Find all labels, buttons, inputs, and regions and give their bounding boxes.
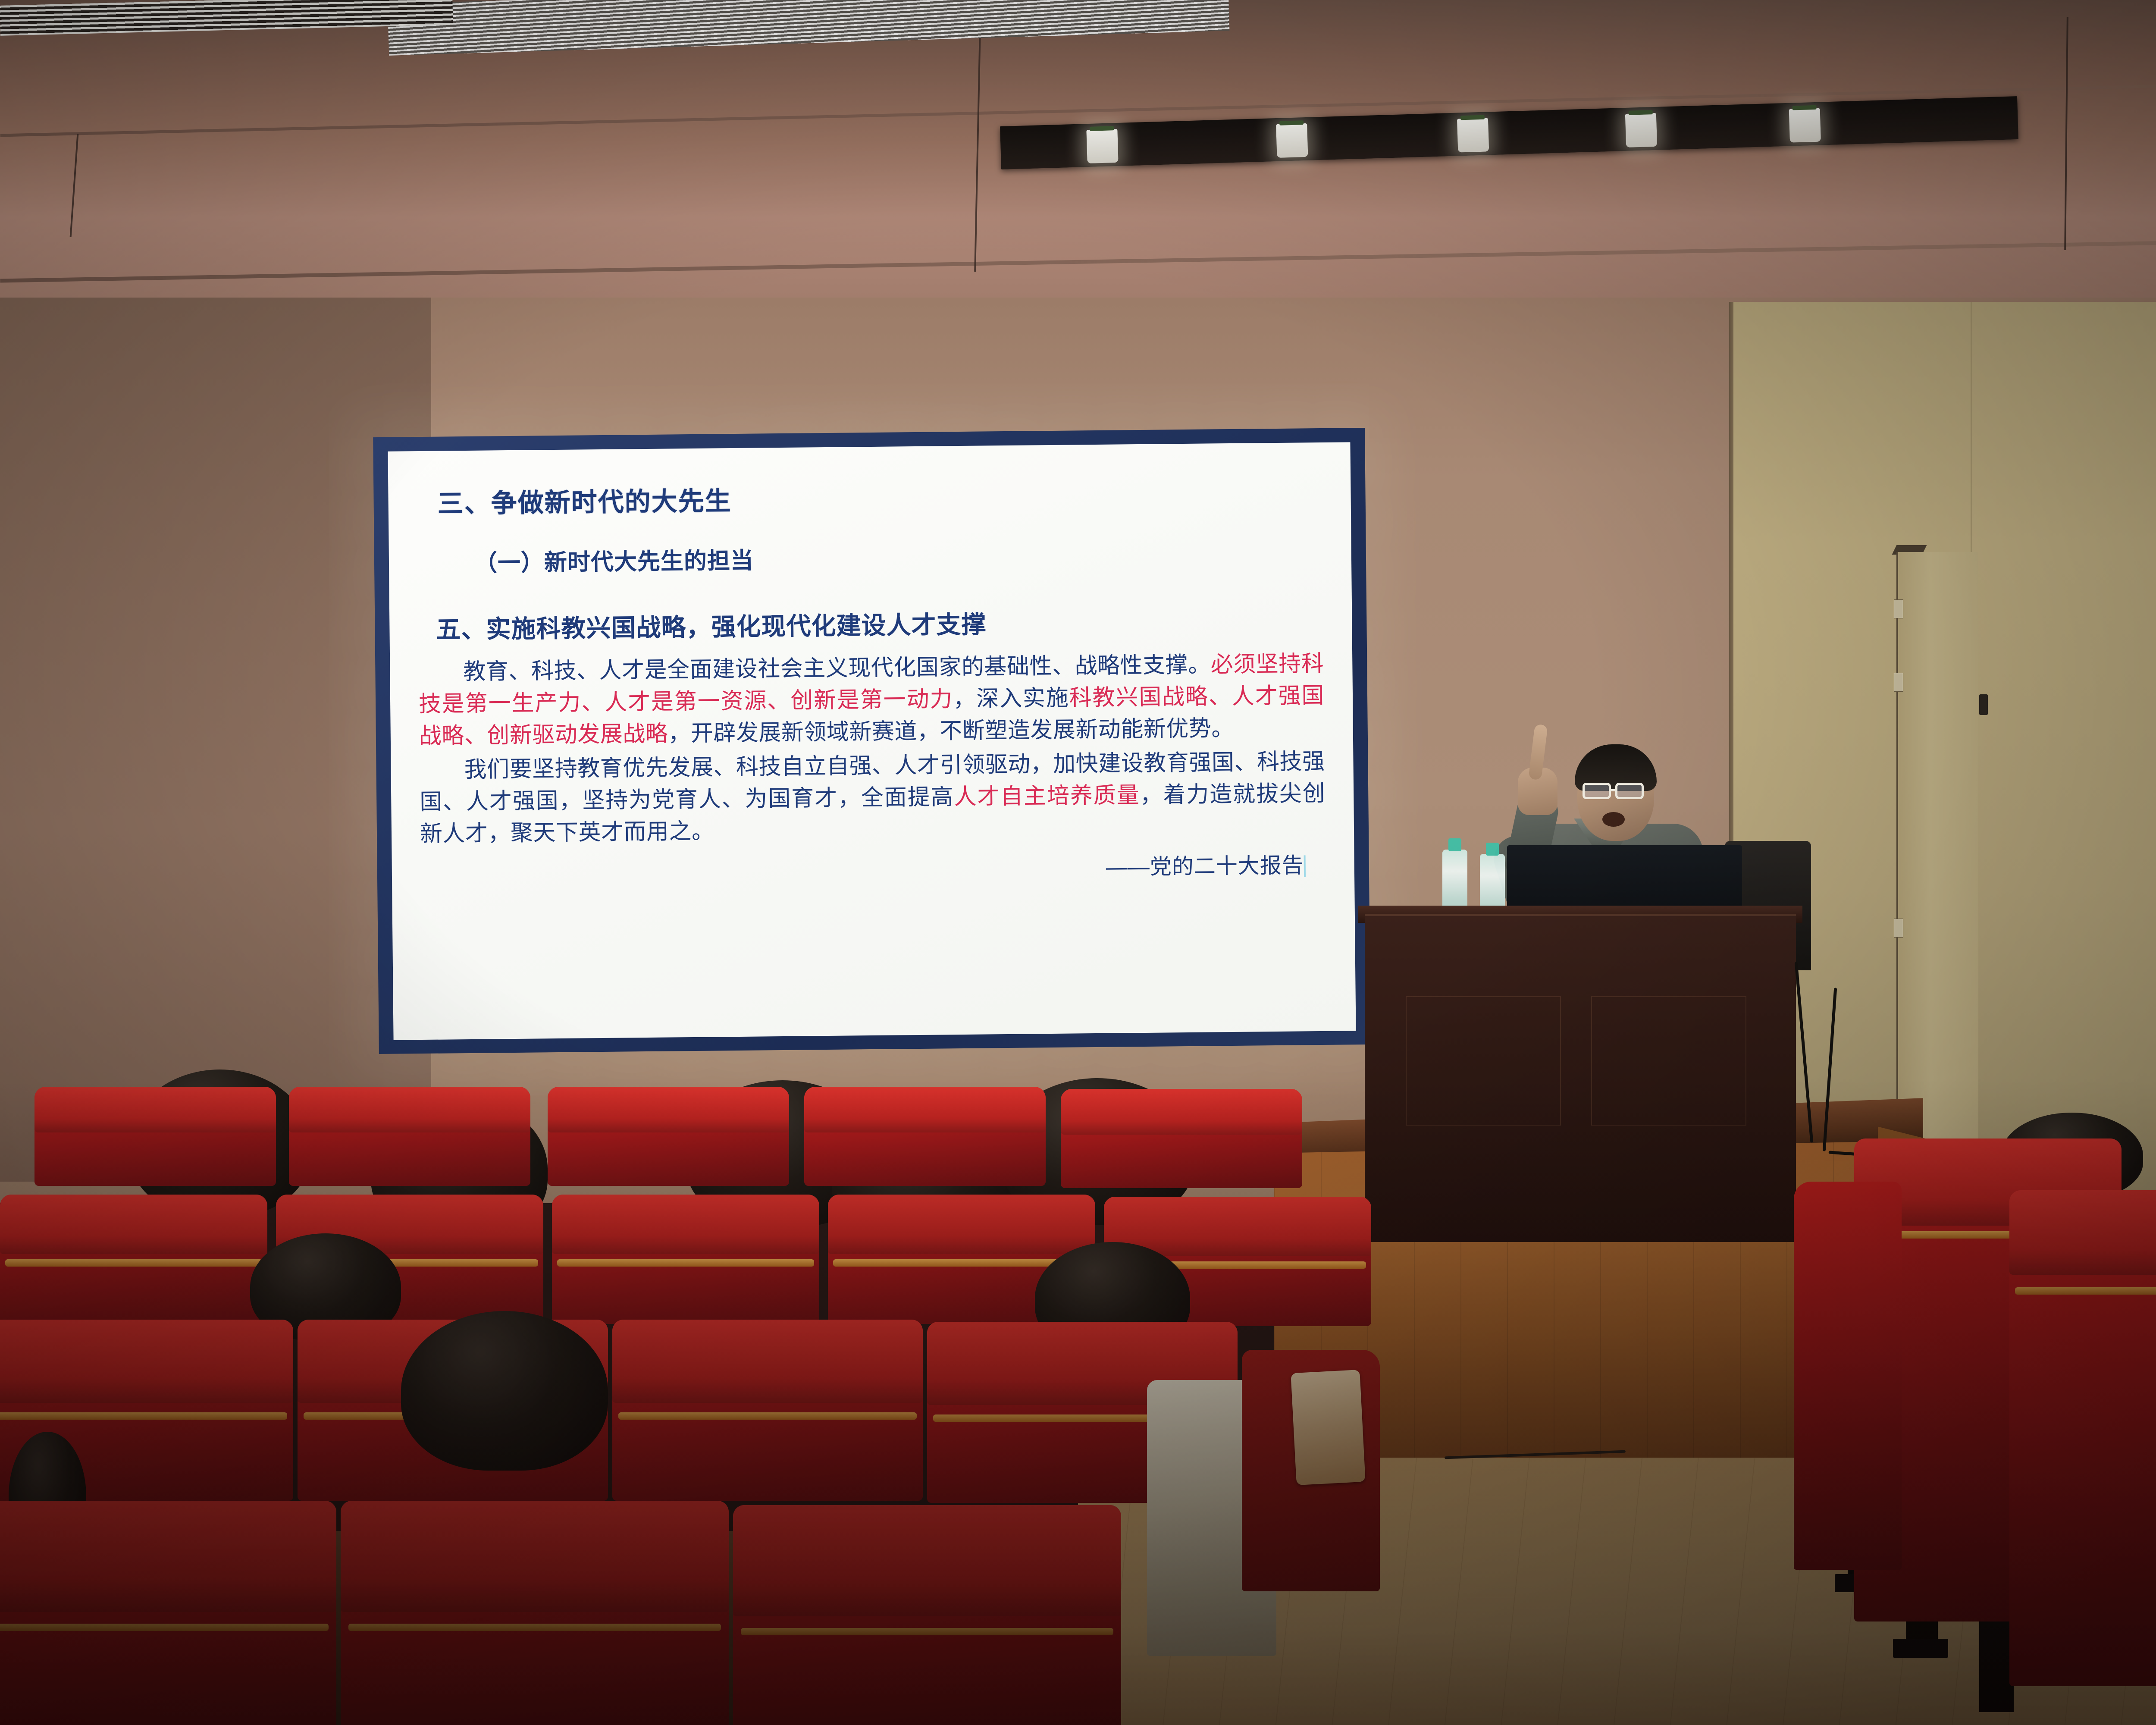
seat-cushion-top: [828, 1195, 1095, 1254]
p1-plain-b: ，深入实施: [953, 685, 1069, 712]
auditorium-seat[interactable]: [548, 1087, 789, 1186]
seat-cushion-top: [612, 1320, 923, 1403]
seat-wood-trim: [0, 1412, 287, 1420]
eyeglasses-right-lens-icon: [1615, 783, 1644, 799]
back-wall-left-section: [0, 298, 431, 1182]
projection-screen: 三、争做新时代的大先生 （一）新时代大先生的担当 五、实施科教兴国战略，强化现代…: [373, 428, 1371, 1054]
seat-cushion-top: [2009, 1190, 2156, 1275]
auditorium-seat[interactable]: [341, 1501, 729, 1725]
auditorium-seat[interactable]: [612, 1320, 923, 1501]
ceiling-panel-joint: [2064, 17, 2068, 250]
door-hinge-icon: [1894, 599, 1903, 618]
seat-cushion-top: [1061, 1089, 1302, 1135]
seat-cushion-top: [0, 1501, 336, 1612]
seat-wood-trim: [741, 1628, 1113, 1635]
seat-cushion-top: [34, 1087, 276, 1132]
p1-plain-a: 教育、科技、人才是全面建设社会主义现代化国家的基础性、战略性支撑。: [463, 652, 1211, 684]
auditorium-seat[interactable]: [1794, 1182, 1902, 1570]
ceiling-panel-joint: [974, 30, 981, 272]
presenter-mouth: [1602, 812, 1625, 827]
auditorium-seat[interactable]: [289, 1087, 530, 1186]
slide-paragraph-1: 教育、科技、人才是全面建设社会主义现代化国家的基础性、战略性支撑。必须坚持科技是…: [418, 648, 1325, 753]
auditorium-seat[interactable]: [804, 1087, 1046, 1186]
slide-body-text: 教育、科技、人才是全面建设社会主义现代化国家的基础性、战略性支撑。必须坚持科技是…: [418, 648, 1326, 850]
seat-cushion-top: [552, 1195, 819, 1254]
p2-highlight-a: 人才自主培养质量: [954, 783, 1140, 809]
seat-cushion-top: [0, 1320, 293, 1403]
auditorium-seat[interactable]: [733, 1505, 1121, 1725]
auditorium-scene: 三、争做新时代的大先生 （一）新时代大先生的担当 五、实施科教兴国战略，强化现代…: [0, 0, 2156, 1725]
ceiling-seam: [0, 239, 2156, 283]
door-hinge-icon: [1894, 673, 1903, 692]
podium-panel: [1406, 996, 1561, 1126]
slide-heading-sub: （一）新时代大先生的担当: [474, 537, 1323, 578]
slide-heading-section: 五、实施科教兴国战略，强化现代化建设人才支撑: [436, 602, 1324, 646]
auditorium-seat[interactable]: [552, 1195, 819, 1324]
audience-head: [401, 1311, 608, 1471]
auditorium-seat[interactable]: [34, 1087, 276, 1186]
slide-attribution: ——党的二十大报告⎸: [420, 848, 1326, 888]
ceiling-spotlight-icon: [1086, 129, 1118, 163]
side-door[interactable]: [1896, 552, 1978, 1147]
seat-cushion-top: [548, 1087, 789, 1132]
podium-panel: [1591, 996, 1746, 1126]
attribution-text: ——党的二十大报告: [1106, 853, 1304, 879]
ceiling-spotlight-icon: [1625, 113, 1657, 147]
slide-cursor-mark: ⎸: [1304, 853, 1326, 877]
auditorium-seat[interactable]: [2009, 1190, 2156, 1686]
seat-wood-trim: [0, 1624, 329, 1631]
seat-wood-trim: [618, 1412, 916, 1420]
slide-heading-primary: 三、争做新时代的大先生: [437, 474, 1322, 521]
eyeglasses-bridge-icon: [1611, 789, 1616, 791]
eyeglasses-left-lens-icon: [1583, 783, 1611, 799]
door-hinge-icon: [1894, 919, 1903, 938]
seat-cushion-top: [804, 1087, 1046, 1132]
ceiling-spotlight-icon: [1457, 118, 1489, 152]
auditorium-seat[interactable]: [1061, 1089, 1302, 1188]
door-handle-icon[interactable]: [1979, 694, 1988, 715]
presentation-slide: 三、争做新时代的大先生 （一）新时代大先生的担当 五、实施科教兴国战略，强化现代…: [388, 442, 1356, 1040]
seat-wood-trim: [2015, 1287, 2156, 1295]
seat-wood-trim: [348, 1624, 721, 1631]
ceiling-panel-joint: [70, 134, 79, 237]
seat-cushion-top: [0, 1195, 267, 1254]
p1-plain-c: ，开辟发展新领域新赛道，不断塑造发展新动能新优势。: [668, 716, 1234, 746]
stage-side-chair[interactable]: [1291, 1370, 1365, 1485]
slide-paragraph-2: 我们要坚持教育优先发展、科技自立自强、人才引领驱动，加快建设教育强国、科技强国、…: [419, 746, 1326, 850]
seat-cushion-top: [341, 1501, 729, 1612]
seat-wood-trim: [5, 1259, 262, 1267]
auditorium-seat[interactable]: [0, 1195, 267, 1324]
seat-armrest-base: [1893, 1639, 1948, 1658]
seat-wood-trim: [557, 1259, 814, 1267]
seat-cushion-top: [733, 1505, 1121, 1616]
seat-cushion-top: [289, 1087, 530, 1132]
ceiling-spotlight-icon: [1789, 108, 1821, 143]
ceiling-spotlight-icon: [1276, 123, 1308, 158]
auditorium-seat[interactable]: [0, 1501, 336, 1725]
